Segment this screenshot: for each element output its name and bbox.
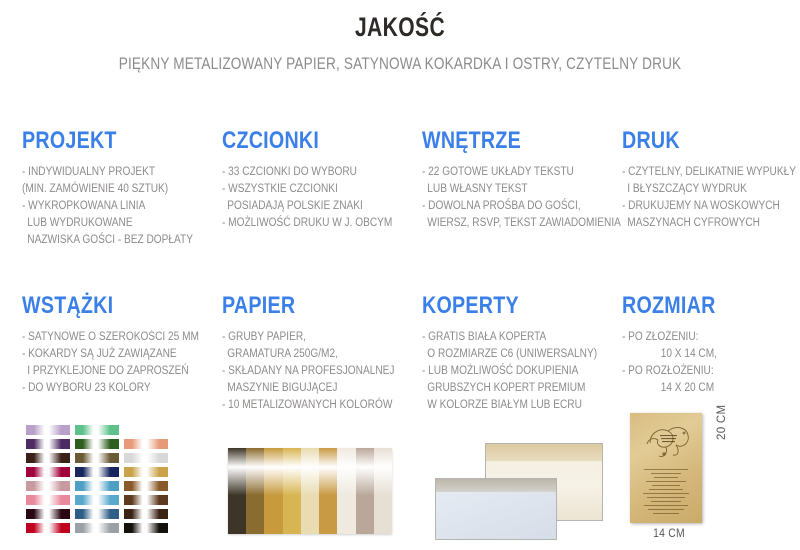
feature-column-czcionki: CZCIONKI- 33 CZCIONKI DO WYBORU- WSZYSTK… <box>222 128 416 232</box>
card-height-label: 20 CM <box>716 405 728 440</box>
card-text-line <box>653 513 679 514</box>
feature-column-wnętrze: WNĘTRZE- 22 GOTOWE UKŁADY TEKSTULUB WŁAS… <box>422 128 648 232</box>
feature-line: WIERSZ, RSVP, TEKST ZAWIADOMIENIA <box>422 215 621 232</box>
feature-line: - LUB MOŻLIWOŚĆ DOKUPIENIA <box>422 363 597 380</box>
feature-column-papier: PAPIER- GRUBY PAPIER,GRAMATURA 250G/M2,-… <box>222 293 418 414</box>
floral-ornament-icon <box>642 421 694 461</box>
feature-line: MASZYNIE BIGUJĄCEJ <box>222 380 394 397</box>
card-text-line <box>649 489 683 490</box>
ribbon-swatch <box>123 494 169 506</box>
feature-line: - SKŁADANY NA PROFESJONALNEJ <box>222 363 394 380</box>
paper-sample-strip <box>337 448 355 534</box>
card-text-line <box>654 477 678 478</box>
ribbon-swatch <box>123 522 169 534</box>
feature-line: - 22 GOTOWE UKŁADY TEKSTU <box>422 164 621 181</box>
ribbon-swatch <box>74 494 120 506</box>
card-text-line <box>648 509 684 510</box>
feature-line: MASZYNACH CYFROWYCH <box>622 215 796 232</box>
ribbon-swatch <box>74 438 120 450</box>
feature-column-projekt: PROJEKT- INDYWIDUALNY PROJEKT(MIN. ZAMÓW… <box>22 128 216 249</box>
feature-line: I BŁYSZCZĄCY WYDRUK <box>622 181 796 198</box>
white-envelope <box>435 478 557 540</box>
paper-sample-strip <box>246 448 264 534</box>
feature-column-rozmiar: ROZMIAR- PO ZŁOŻENIU:10 X 14 CM,- PO ROZ… <box>622 293 736 397</box>
feature-line: W KOLORZE BIAŁYM LUB ECRU <box>422 397 597 414</box>
feature-line: 10 X 14 CM, <box>622 346 722 363</box>
feature-line: - 10 METALIZOWANYCH KOLORÓW <box>222 397 394 414</box>
ribbon-swatch <box>25 494 71 506</box>
card-width-label: 14 CM <box>634 528 704 540</box>
feature-line: - 33 CZCIONKI DO WYBORU <box>222 164 392 181</box>
feature-heading: WNĘTRZE <box>422 128 607 153</box>
ribbon-swatch <box>25 438 71 450</box>
feature-lines: - GRATIS BIAŁA KOPERTAO ROZMIARZE C6 (UN… <box>422 329 597 414</box>
feature-line: - DRUKUJEMY NA WOSKOWYCH <box>622 198 796 215</box>
ribbon-swatch <box>25 424 71 436</box>
paper-sample-strip <box>319 448 337 534</box>
card-text-line <box>651 473 681 474</box>
feature-line: - PO ROZŁOŻENIU: <box>622 363 722 380</box>
feature-lines: - PO ZŁOŻENIU:10 X 14 CM,- PO ROZŁOŻENIU… <box>622 329 722 397</box>
paper-sample-strip <box>301 448 319 534</box>
feature-line: - DO WYBORU 23 KOLORY <box>22 380 199 397</box>
paper-sample-strip <box>374 448 392 534</box>
ribbon-swatch <box>74 466 120 478</box>
card-text-line <box>644 505 688 506</box>
feature-line: LUB WŁASNY TEKST <box>422 181 621 198</box>
feature-line: - DOWOLNA PROŚBA DO GOŚCI, <box>422 198 621 215</box>
feature-lines: - SATYNOWE O SZEROKOŚCI 25 MM- KOKARDY S… <box>22 329 199 397</box>
paper-sample-strip <box>264 448 282 534</box>
card-text-line <box>646 481 686 482</box>
feature-line: - MOŻLIWOŚĆ DRUKU W J. OBCYM <box>222 215 392 232</box>
ribbon-swatch <box>25 480 71 492</box>
ribbon-swatch <box>123 508 169 520</box>
feature-heading: KOPERTY <box>422 293 585 318</box>
feature-heading: CZCIONKI <box>222 128 381 153</box>
ribbon-swatch <box>25 508 71 520</box>
card-text-line <box>652 485 680 486</box>
paper-sample-strip <box>283 448 301 534</box>
card-text-line <box>647 497 685 498</box>
feature-line: 14 X 20 CM <box>622 380 722 397</box>
feature-column-druk: DRUK- CZYTELNY, DELIKATNIE WYPUKŁYI BŁYS… <box>622 128 800 232</box>
quality-info-page: JAKOŚĆ PIĘKNY METALIZOWANY PAPIER, SATYN… <box>0 0 800 550</box>
ribbon-swatch <box>74 480 120 492</box>
ribbon-swatch <box>74 522 120 534</box>
feature-line: - CZYTELNY, DELIKATNIE WYPUKŁY <box>622 164 796 181</box>
feature-lines: - 22 GOTOWE UKŁADY TEKSTULUB WŁASNY TEKS… <box>422 164 621 232</box>
page-title: JAKOŚĆ <box>88 12 712 43</box>
feature-line: LUB WYDRUKOWANE <box>22 215 193 232</box>
feature-line: - SATYNOWE O SZEROKOŚCI 25 MM <box>22 329 199 346</box>
feature-line: - KOKARDY SĄ JUŻ ZAWIĄZANE <box>22 346 199 363</box>
feature-lines: - GRUBY PAPIER,GRAMATURA 250G/M2,- SKŁAD… <box>222 329 394 414</box>
feature-line: I PRZYKLEJONE DO ZAPROSZEŃ <box>22 363 199 380</box>
feature-line: NAZWISKA GOŚCI - BEZ DOPŁATY <box>22 232 193 249</box>
ribbon-swatch <box>123 466 169 478</box>
ribbon-swatches <box>25 424 175 538</box>
feature-lines: - 33 CZCIONKI DO WYBORU- WSZYSTKIE CZCIO… <box>222 164 392 232</box>
feature-line: POSIADAJĄ POLSKIE ZNAKI <box>222 198 392 215</box>
paper-sample-strip <box>228 448 246 534</box>
feature-column-wstążki: WSTĄŻKI- SATYNOWE O SZEROKOŚCI 25 MM- KO… <box>22 293 223 397</box>
card-text-line <box>651 501 681 502</box>
ribbon-swatch <box>123 452 169 464</box>
ribbon-swatch <box>25 452 71 464</box>
feature-heading: WSTĄŻKI <box>22 293 187 318</box>
feature-lines: - CZYTELNY, DELIKATNIE WYPUKŁYI BŁYSZCZĄ… <box>622 164 796 232</box>
feature-lines: - INDYWIDUALNY PROJEKT(MIN. ZAMÓWIENIE 4… <box>22 164 193 249</box>
feature-line: O ROZMIARZE C6 (UNIWERSALNY) <box>422 346 597 363</box>
ribbon-swatch <box>74 424 120 436</box>
ribbon-swatch <box>74 452 120 464</box>
ribbon-swatch <box>25 522 71 534</box>
feature-line: GRAMATURA 250G/M2, <box>222 346 394 363</box>
feature-line: GRUBSZYCH KOPERT PREMIUM <box>422 380 597 397</box>
feature-column-koperty: KOPERTY- GRATIS BIAŁA KOPERTAO ROZMIARZE… <box>422 293 621 414</box>
feature-heading: PAPIER <box>222 293 383 318</box>
paper-sample-strip <box>356 448 374 534</box>
ribbon-swatch <box>25 466 71 478</box>
feature-heading: ROZMIAR <box>622 293 716 318</box>
feature-line: - GRUBY PAPIER, <box>222 329 394 346</box>
feature-line: (MIN. ZAMÓWIENIE 40 SZTUK) <box>22 181 193 198</box>
feature-heading: DRUK <box>622 128 784 153</box>
paper-samples <box>228 448 392 534</box>
card-text-lines <box>637 469 695 517</box>
card-text-line <box>644 469 688 470</box>
invitation-card <box>630 413 702 523</box>
card-text-line <box>643 493 689 494</box>
envelope-flap <box>486 444 602 461</box>
feature-heading: PROJEKT <box>22 128 181 153</box>
ribbon-swatch <box>74 508 120 520</box>
feature-line: - INDYWIDUALNY PROJEKT <box>22 164 193 181</box>
feature-line: - WYKROPKOWANA LINIA <box>22 198 193 215</box>
ribbon-swatch <box>123 438 169 450</box>
feature-line: - WSZYSTKIE CZCIONKI <box>222 181 392 198</box>
feature-line: - GRATIS BIAŁA KOPERTA <box>422 329 597 346</box>
ribbon-swatch <box>123 480 169 492</box>
feature-line: - PO ZŁOŻENIU: <box>622 329 722 346</box>
page-subtitle: PIĘKNY METALIZOWANY PAPIER, SATYNOWA KOK… <box>80 54 720 74</box>
envelope-flap <box>436 479 556 492</box>
